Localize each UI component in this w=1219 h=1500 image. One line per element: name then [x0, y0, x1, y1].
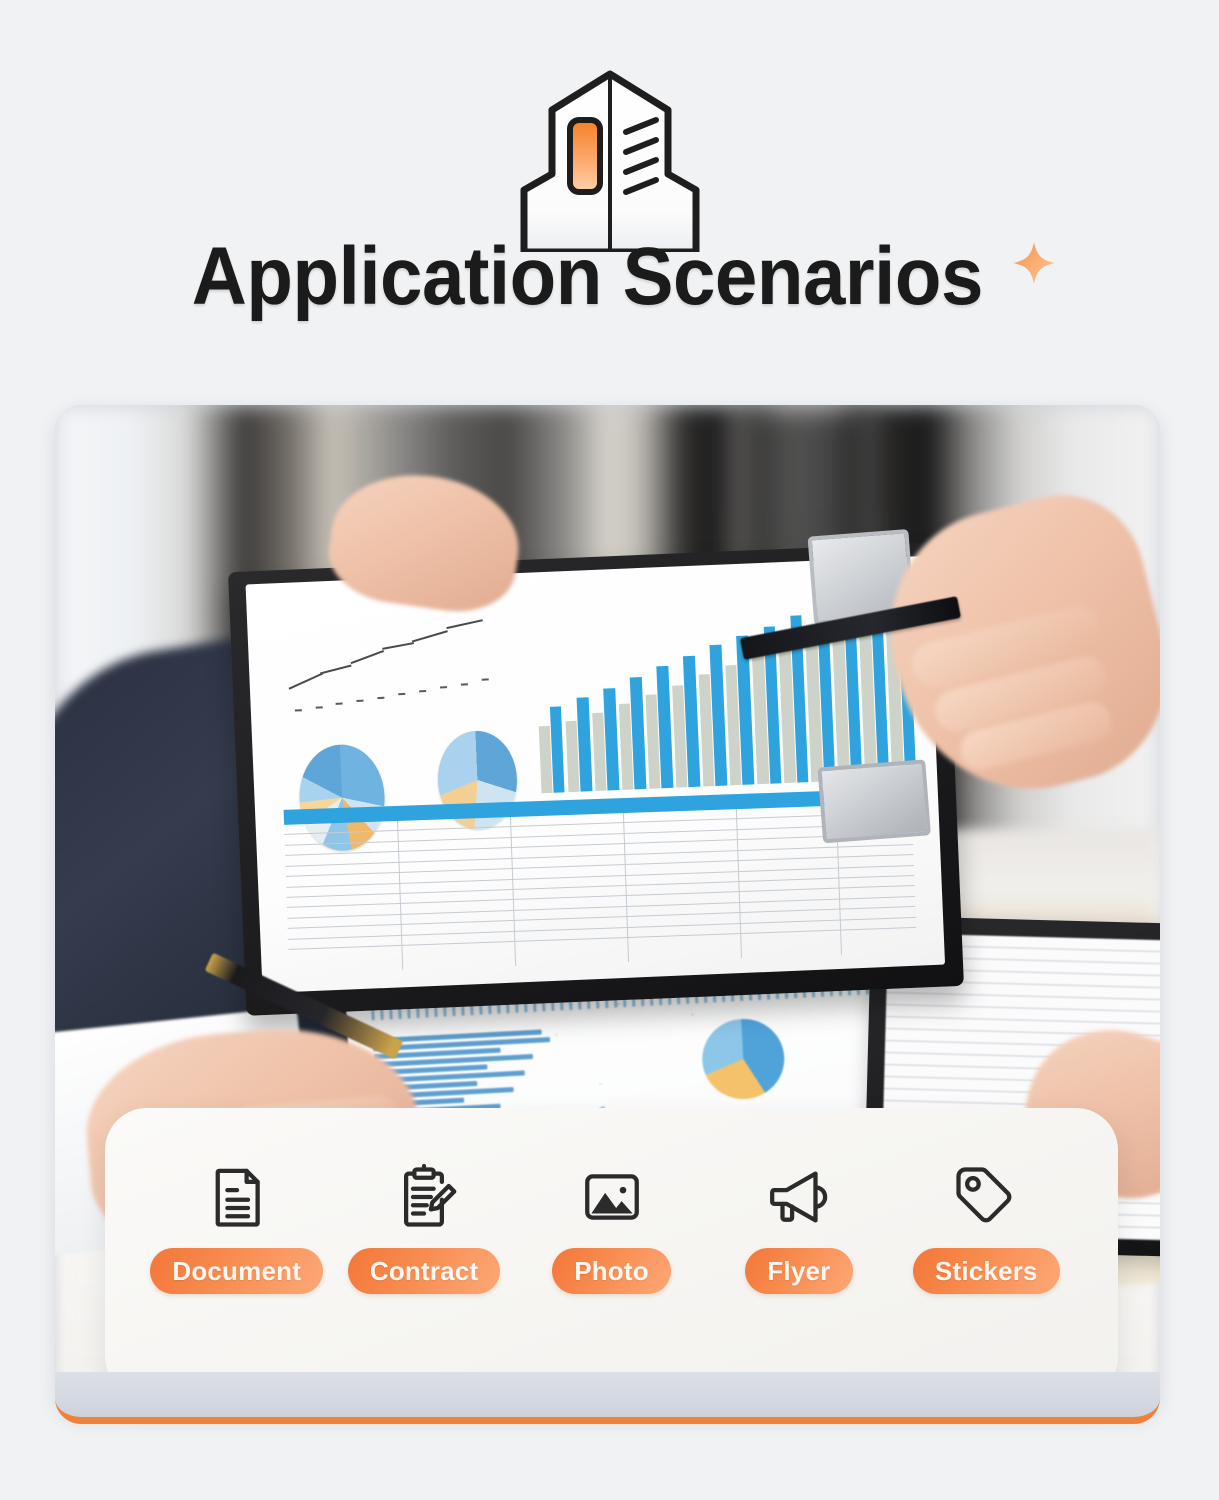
- badge-label-document: Document: [150, 1248, 323, 1294]
- megaphone-icon: [766, 1164, 832, 1230]
- badge-label-contract: Contract: [348, 1248, 501, 1294]
- badge-label-stickers: Stickers: [913, 1248, 1060, 1294]
- page-title-row: Application Scenarios: [0, 236, 1219, 318]
- badge-label-flyer: Flyer: [745, 1248, 852, 1294]
- price-tag-icon: [953, 1164, 1019, 1230]
- scenario-badge-card: Document Contract: [105, 1108, 1118, 1398]
- badge-stickers[interactable]: Stickers: [893, 1164, 1080, 1294]
- badge-flyer[interactable]: Flyer: [705, 1164, 892, 1294]
- clipboard-line-chart: [281, 602, 517, 718]
- badge-document[interactable]: Document: [143, 1164, 330, 1294]
- clipboard-clip-side: [818, 759, 931, 843]
- bottom-accent-band: [55, 1372, 1160, 1424]
- page-header: Application Scenarios: [0, 0, 1219, 400]
- document-page-icon: [204, 1164, 270, 1230]
- badge-label-photo: Photo: [552, 1248, 671, 1294]
- scenario-badge-row: Document Contract: [105, 1164, 1118, 1294]
- badge-photo[interactable]: Photo: [518, 1164, 705, 1294]
- sparkle-icon: [1011, 240, 1057, 286]
- building-logo-icon: [500, 62, 720, 252]
- main-clipboard: [228, 542, 964, 1016]
- page-title: Application Scenarios: [192, 236, 983, 318]
- badge-contract[interactable]: Contract: [330, 1164, 517, 1294]
- report-pie-chart-1: [700, 1017, 786, 1101]
- report-network-diagram: [554, 1000, 697, 1087]
- image-picture-icon: [579, 1164, 645, 1230]
- clipboard-pencil-icon: [391, 1164, 457, 1230]
